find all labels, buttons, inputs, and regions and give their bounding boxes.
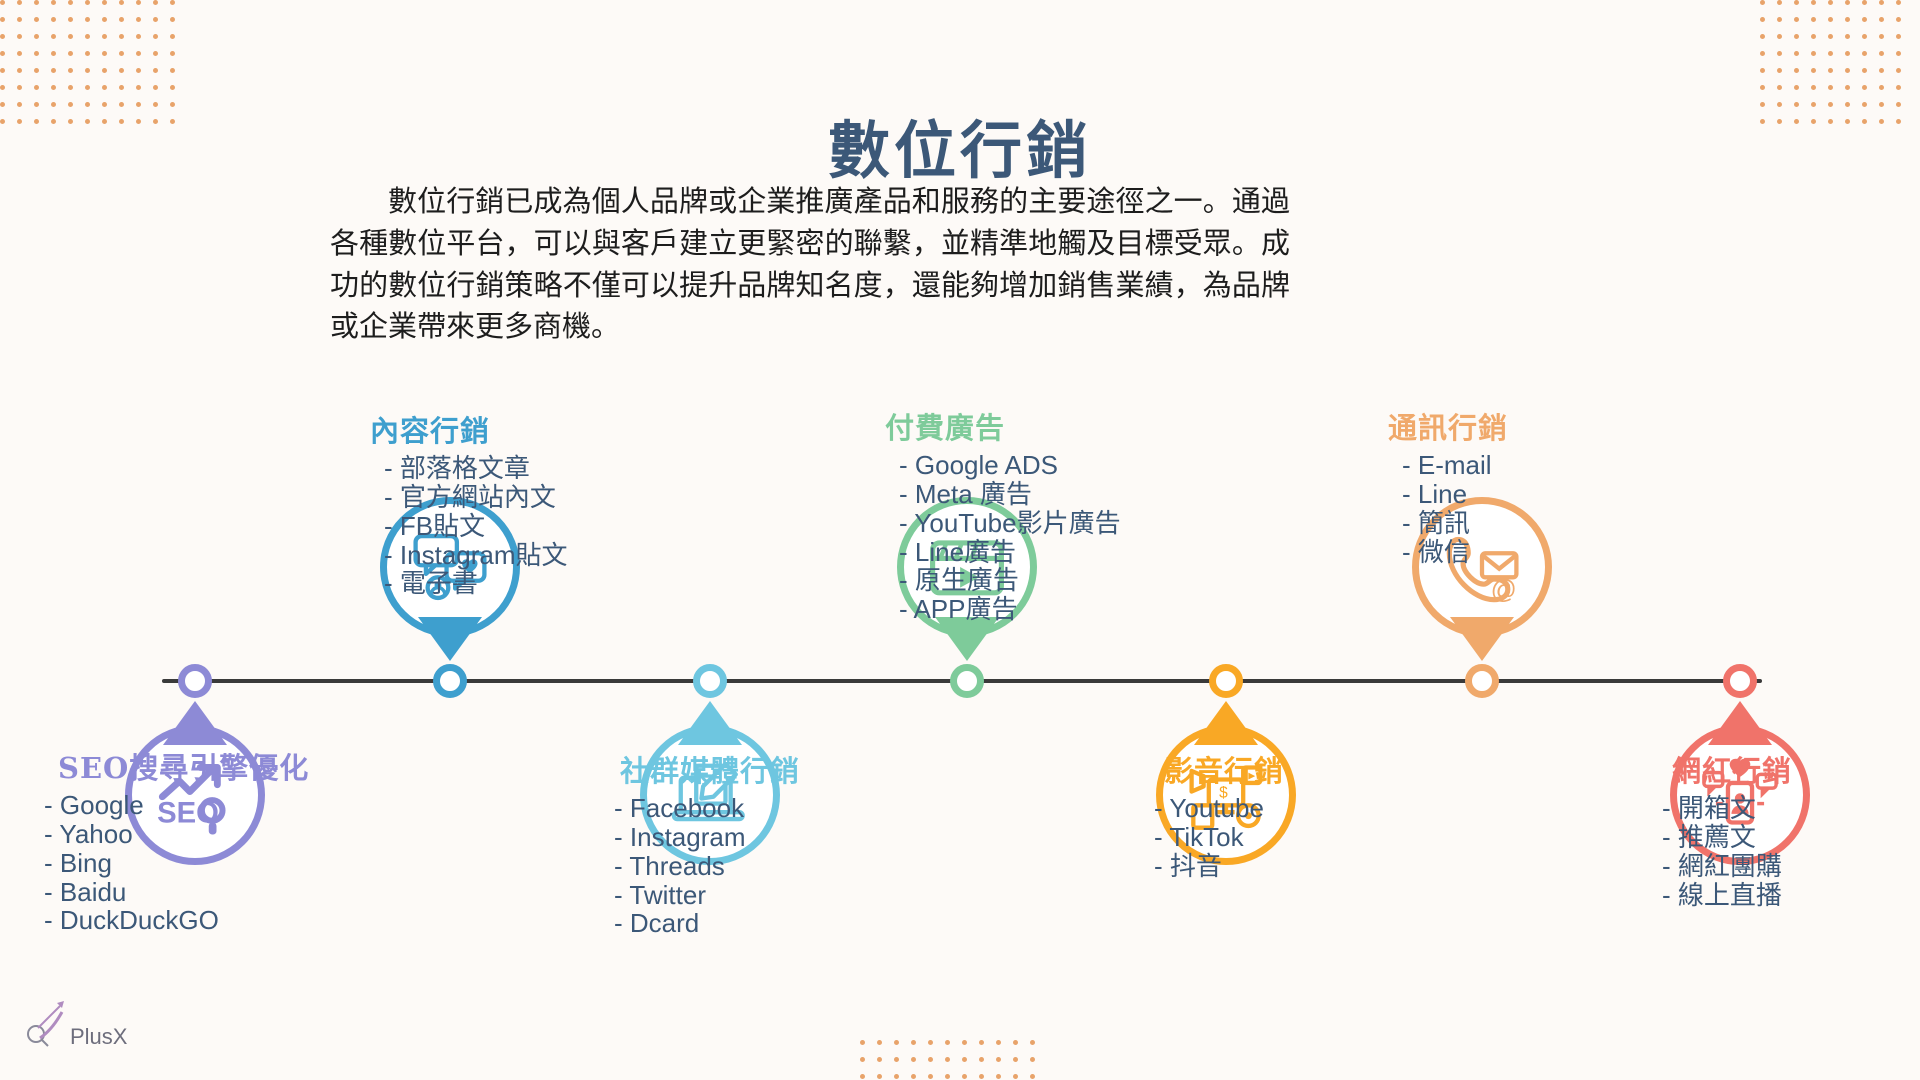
list-item: FB貼文 bbox=[384, 512, 670, 541]
list-item: 原生廣告 bbox=[899, 566, 1185, 595]
section-list-messaging: E-mailLine簡訊微信 bbox=[1388, 451, 1688, 566]
plusx-logo: PlusX bbox=[24, 1000, 144, 1060]
list-item: Google bbox=[44, 791, 330, 820]
list-item: Threads bbox=[614, 852, 900, 881]
list-item: APP廣告 bbox=[899, 595, 1185, 624]
list-item: Youtube bbox=[1154, 794, 1440, 823]
section-list-content: 部落格文章官方網站內文FB貼文Instagram貼文電子書 bbox=[370, 454, 670, 598]
section-social: 社群媒體行銷FacebookInstagramThreadsTwitterDca… bbox=[600, 748, 900, 938]
marker-tip-influencer bbox=[1708, 701, 1772, 745]
list-item: Instagram bbox=[614, 823, 900, 852]
list-item: Google ADS bbox=[899, 451, 1185, 480]
marker-tip-seo bbox=[163, 701, 227, 745]
section-content: 內容行銷部落格文章官方網站內文FB貼文Instagram貼文電子書 bbox=[370, 408, 670, 598]
marker-tip-video bbox=[1194, 701, 1258, 745]
list-item: DuckDuckGO bbox=[44, 906, 330, 935]
list-item: 網紅團購 bbox=[1662, 852, 1920, 881]
section-heading-messaging: 通訊行銷 bbox=[1388, 405, 1688, 447]
timeline-node-influencer bbox=[1723, 664, 1757, 698]
svg-text:@: @ bbox=[1491, 576, 1517, 604]
timeline-node-messaging bbox=[1465, 664, 1499, 698]
list-item: Facebook bbox=[614, 794, 900, 823]
list-item: 官方網站內文 bbox=[384, 483, 670, 512]
list-item: 抖音 bbox=[1154, 852, 1440, 881]
intro-paragraph: 數位行銷已成為個人品牌或企業推廣產品和服務的主要途徑之一。通過各種數位平台，可以… bbox=[330, 181, 1290, 348]
section-heading-paid-ads: 付費廣告 bbox=[885, 405, 1185, 447]
section-list-social: FacebookInstagramThreadsTwitterDcard bbox=[600, 794, 900, 938]
list-item: YouTube影片廣告 bbox=[899, 509, 1185, 538]
section-list-influencer: 開箱文推薦文網紅團購線上直播 bbox=[1648, 794, 1920, 909]
logo-text: PlusX bbox=[70, 1024, 127, 1050]
list-item: Instagram貼文 bbox=[384, 541, 670, 570]
list-item: Bing bbox=[44, 849, 330, 878]
section-heading-content: 內容行銷 bbox=[370, 408, 670, 450]
section-heading-video: 影音行銷 bbox=[1140, 748, 1440, 790]
list-item: Line bbox=[1402, 480, 1688, 509]
section-heading-influencer: 網紅行銷 bbox=[1648, 748, 1920, 790]
section-list-paid-ads: Google ADSMeta 廣告YouTube影片廣告Line廣告原生廣告AP… bbox=[885, 451, 1185, 624]
page-title: 數位行銷 bbox=[0, 100, 1920, 190]
timeline-node-video bbox=[1209, 664, 1243, 698]
timeline-node-content bbox=[433, 664, 467, 698]
marker-tip-social bbox=[678, 701, 742, 745]
timeline-node-paid-ads bbox=[950, 664, 984, 698]
list-item: TikTok bbox=[1154, 823, 1440, 852]
timeline-node-social bbox=[693, 664, 727, 698]
list-item: 線上直播 bbox=[1662, 881, 1920, 910]
list-item: Yahoo bbox=[44, 820, 330, 849]
section-video: 影音行銷YoutubeTikTok抖音 bbox=[1140, 748, 1440, 881]
list-item: Dcard bbox=[614, 909, 900, 938]
section-messaging: 通訊行銷E-mailLine簡訊微信 bbox=[1388, 405, 1688, 566]
section-heading-social: 社群媒體行銷 bbox=[600, 748, 900, 790]
list-item: Baidu bbox=[44, 878, 330, 907]
section-paid-ads: 付費廣告Google ADSMeta 廣告YouTube影片廣告Line廣告原生… bbox=[885, 405, 1185, 624]
marker-tip-content bbox=[418, 617, 482, 661]
list-item: 簡訊 bbox=[1402, 509, 1688, 538]
section-heading-seo: SEO搜尋引擎優化 bbox=[30, 745, 330, 787]
list-item: Meta 廣告 bbox=[899, 480, 1185, 509]
list-item: E-mail bbox=[1402, 451, 1688, 480]
section-list-seo: GoogleYahooBingBaiduDuckDuckGO bbox=[30, 791, 330, 935]
list-item: Line廣告 bbox=[899, 538, 1185, 567]
marker-tip-messaging bbox=[1450, 617, 1514, 661]
list-item: 微信 bbox=[1402, 538, 1688, 567]
list-item: 部落格文章 bbox=[384, 454, 670, 483]
list-item: 推薦文 bbox=[1662, 823, 1920, 852]
section-list-video: YoutubeTikTok抖音 bbox=[1140, 794, 1440, 881]
section-influencer: 網紅行銷開箱文推薦文網紅團購線上直播 bbox=[1648, 748, 1920, 909]
plusx-mark-icon bbox=[24, 1000, 68, 1050]
timeline-node-seo bbox=[178, 664, 212, 698]
list-item: Twitter bbox=[614, 881, 900, 910]
section-seo: SEO搜尋引擎優化GoogleYahooBingBaiduDuckDuckGO bbox=[30, 745, 330, 935]
list-item: 電子書 bbox=[384, 569, 670, 598]
list-item: 開箱文 bbox=[1662, 794, 1920, 823]
